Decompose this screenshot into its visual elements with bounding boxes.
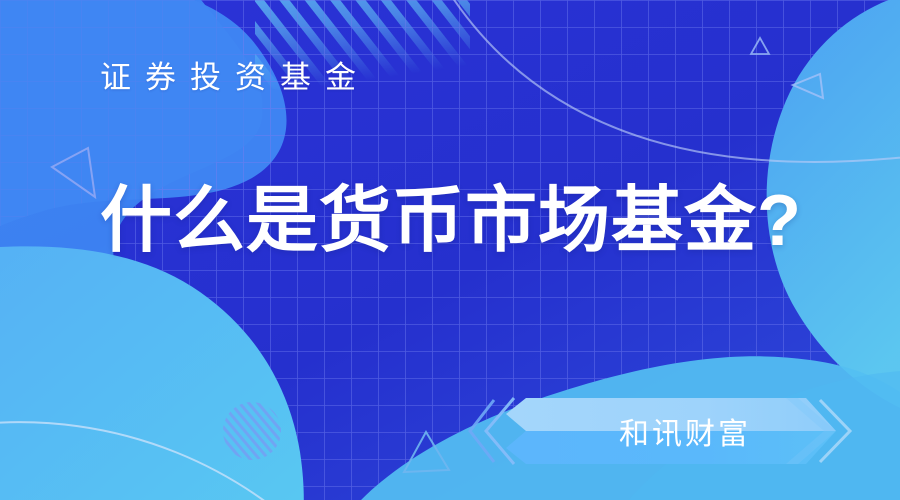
poster-headline: 什么是货币市场基金? — [100, 185, 860, 257]
poster-text-block: 证券投资基金 什么是货币市场基金? — [100, 62, 860, 257]
source-ribbon[interactable]: 和讯财富 — [468, 392, 888, 470]
poster-kicker: 证券投资基金 — [100, 62, 860, 93]
poster-canvas: 证券投资基金 什么是货币市场基金? — [0, 0, 900, 500]
